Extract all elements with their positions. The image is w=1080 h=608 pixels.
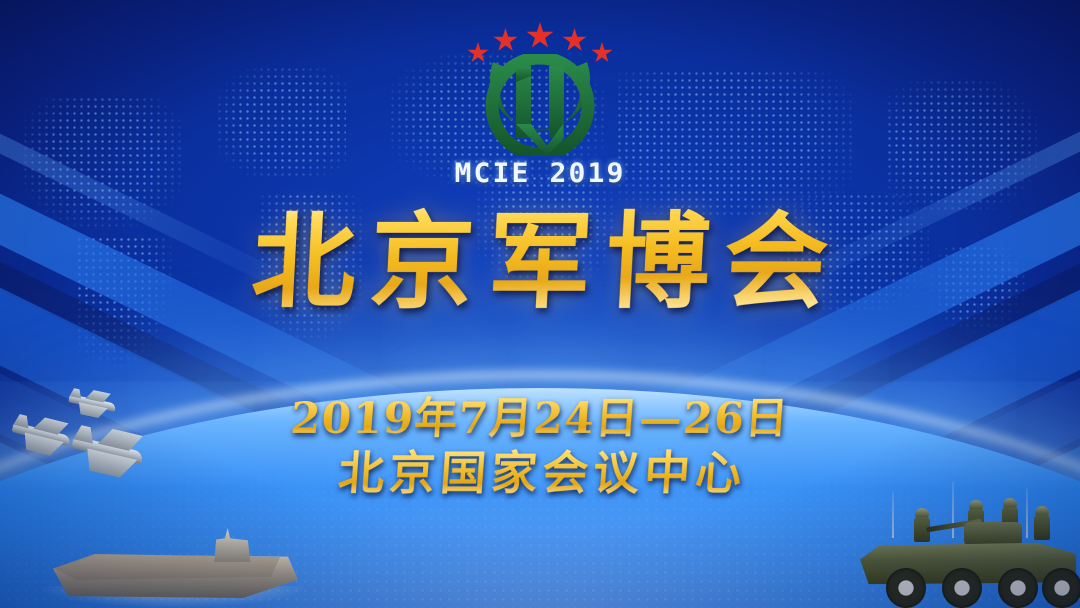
- mcie-logo: MCIE 2019: [425, 16, 655, 189]
- turret: [964, 522, 1022, 546]
- event-poster: MCIE 2019 北京军博会 2019年7月24日—26日 北京国家会议中心: [0, 0, 1080, 608]
- wheel: [942, 568, 982, 608]
- wheel: [998, 568, 1038, 608]
- armored-personnel-carrier: [856, 486, 1080, 608]
- antenna: [952, 482, 954, 538]
- mcie-green-circular-emblem: [475, 54, 605, 156]
- five-red-stars: [425, 16, 655, 58]
- wheel: [1042, 568, 1080, 608]
- poster-title: 北京军博会: [0, 206, 1080, 318]
- wheel: [886, 568, 926, 608]
- aircraft-carrier: [48, 496, 298, 608]
- soldier: [914, 508, 930, 542]
- fighter-jet-formation: [8, 392, 208, 482]
- carrier-island-superstructure: [210, 528, 254, 562]
- mcie-acronym-text: MCIE 2019: [420, 158, 659, 189]
- antenna: [892, 492, 894, 538]
- soldier: [1034, 506, 1050, 540]
- antenna: [1026, 488, 1028, 538]
